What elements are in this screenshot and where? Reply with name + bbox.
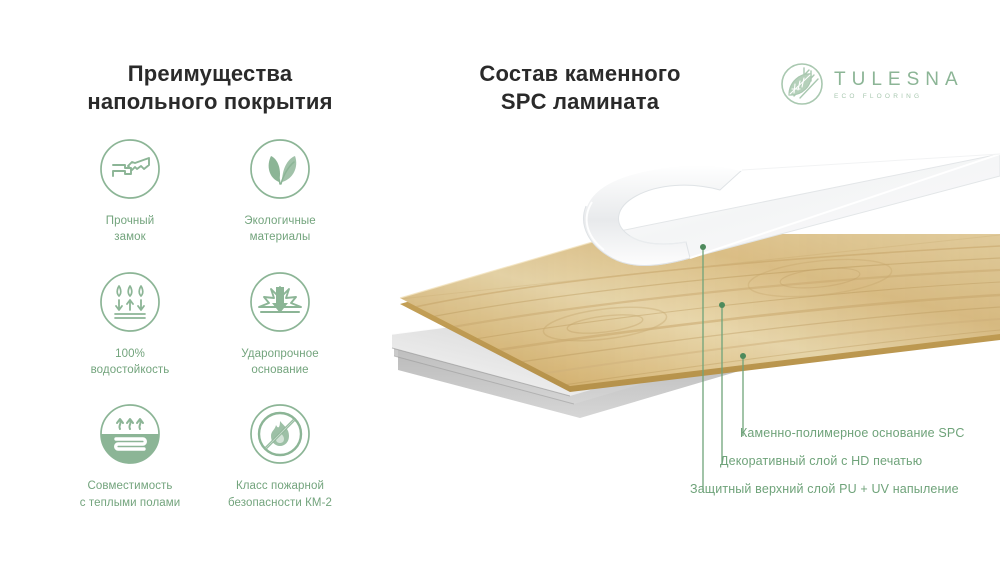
brand-logo: TULESNA ECO FLOORING [780,58,955,110]
benefit-item-impact: Ударопрочное основание [205,271,355,379]
water-drops-icon [99,271,161,333]
benefit-label: Ударопрочное основание [241,346,318,379]
leaf-circle-icon [780,62,824,106]
benefit-label: Совместимость с теплыми полами [80,478,181,511]
benefits-row: 100% водостойкость Ударопрочное основани… [55,271,355,379]
page-title-right: Состав каменного SPC ламината [430,60,730,116]
impact-arrow-icon [249,271,311,333]
callout-label-decorative-layer: Декоративный слой с HD печатью [720,454,922,468]
benefit-label: Класс пожарной безопасности КМ-2 [228,478,332,511]
page-title-left: Преимущества напольного покрытия [40,60,380,116]
logo-tagline: ECO FLOORING [834,94,964,101]
leaves-icon [249,138,311,200]
benefits-row: Совместимость с теплыми полами Класс пож… [55,403,355,511]
underfloor-heating-icon [99,403,161,465]
benefits-row: Прочный замок Экологичные материалы [55,138,355,246]
benefit-item-underfloor-heating: Совместимость с теплыми полами [55,403,205,511]
benefit-label: Прочный замок [106,213,155,246]
benefit-item-eco: Экологичные материалы [205,138,355,246]
benefit-item-lock: Прочный замок [55,138,205,246]
benefit-label: Экологичные материалы [244,213,316,246]
callout-label-protective-layer: Защитный верхний слой PU + UV напыление [690,482,959,496]
infographic-canvas: Преимущества напольного покрытия Состав … [0,0,1000,562]
benefit-label: 100% водостойкость [91,346,170,379]
logo-wordmark: TULESNA ECO FLOORING [834,68,964,101]
callout-label-spc-base: Каменно-полимерное основание SPC [740,426,965,440]
no-fire-icon [249,403,311,465]
benefit-item-fire-class: Класс пожарной безопасности КМ-2 [205,403,355,511]
click-lock-icon [99,138,161,200]
logo-name: TULESNA [834,70,964,89]
callouts-group: Каменно-полимерное основание SPC Декорат… [380,230,1000,520]
benefits-grid: Прочный замок Экологичные материалы [55,138,355,511]
benefit-item-waterproof: 100% водостойкость [55,271,205,379]
